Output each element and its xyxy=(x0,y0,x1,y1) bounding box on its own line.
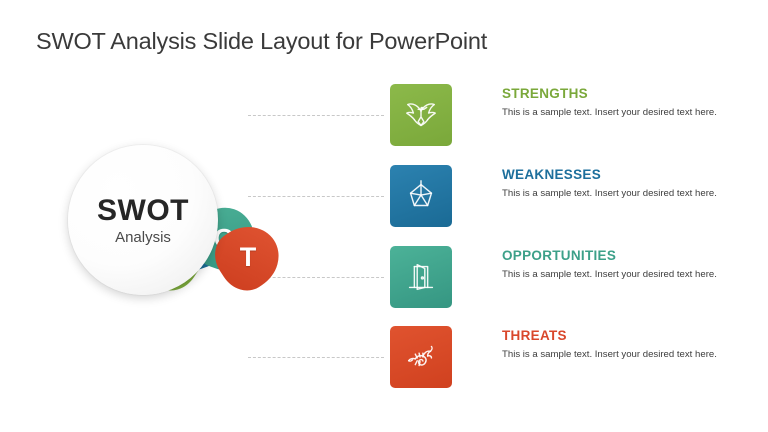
page-title: SWOT Analysis Slide Layout for PowerPoin… xyxy=(36,28,487,55)
swot-slide: SWOT Analysis Slide Layout for PowerPoin… xyxy=(0,0,768,432)
icon-box-weaknesses[interactable] xyxy=(390,165,452,227)
heading-opportunities: OPPORTUNITIES xyxy=(502,248,737,263)
body-opportunities: This is a sample text. Insert your desir… xyxy=(502,268,737,282)
swot-wheel: S W O T SWOT Analysis xyxy=(60,70,330,400)
body-weaknesses: This is a sample text. Insert your desir… xyxy=(502,187,737,201)
heading-weaknesses: WEAKNESSES xyxy=(502,167,737,182)
icon-box-strengths[interactable] xyxy=(390,84,452,146)
swot-center-circle: SWOT Analysis xyxy=(68,145,218,295)
petal-threats[interactable]: T xyxy=(205,214,291,300)
row-text-opportunities: OPPORTUNITIES This is a sample text. Ins… xyxy=(502,248,737,282)
broken-star-icon xyxy=(402,177,440,215)
icon-box-threats[interactable] xyxy=(390,326,452,388)
body-strengths: This is a sample text. Insert your desir… xyxy=(502,106,737,120)
icon-box-opportunities[interactable] xyxy=(390,246,452,308)
hub-subtitle: Analysis xyxy=(115,229,171,246)
heading-threats: THREATS xyxy=(502,328,737,343)
heading-strengths: STRENGTHS xyxy=(502,86,737,101)
row-weaknesses: WEAKNESSES This is a sample text. Insert… xyxy=(390,165,740,227)
open-door-icon xyxy=(402,258,440,296)
row-opportunities: OPPORTUNITIES This is a sample text. Ins… xyxy=(390,246,740,308)
row-text-weaknesses: WEAKNESSES This is a sample text. Insert… xyxy=(502,167,737,201)
row-text-threats: THREATS This is a sample text. Insert yo… xyxy=(502,328,737,362)
eagle-icon xyxy=(402,96,440,134)
petal-letter-t: T xyxy=(217,226,279,288)
body-threats: This is a sample text. Insert your desir… xyxy=(502,348,737,362)
row-strengths: STRENGTHS This is a sample text. Insert … xyxy=(390,84,740,146)
row-threats: THREATS This is a sample text. Insert yo… xyxy=(390,326,740,388)
scorpion-icon xyxy=(402,338,440,376)
row-text-strengths: STRENGTHS This is a sample text. Insert … xyxy=(502,86,737,120)
hub-title: SWOT xyxy=(97,194,189,228)
